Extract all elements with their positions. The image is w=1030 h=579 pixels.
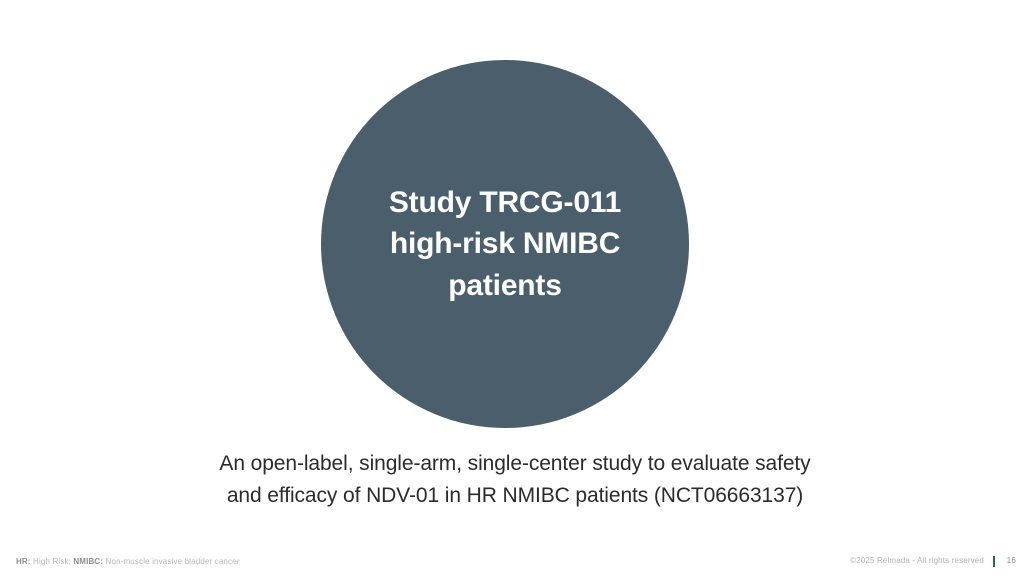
footer-meta: ©2025 Relmada - All rights reserved 16 [850,556,1016,567]
copyright-text: ©2025 Relmada - All rights reserved [850,556,984,566]
study-description: An open-label, single-arm, single-center… [0,448,1030,512]
circle-shape: Study TRCG-011 high-risk NMIBC patients [321,60,689,428]
study-circle: Study TRCG-011 high-risk NMIBC patients [321,60,689,428]
page-number: 16 [1004,556,1016,566]
abbrev-nmibc-value: Non-muscle invasive bladder cancer [103,557,239,566]
footnote-abbreviations: HR: High Risk; NMIBC: Non-muscle invasiv… [16,557,240,567]
circle-title-text: Study TRCG-011 high-risk NMIBC patients [355,182,655,306]
abbrev-nmibc-label: NMIBC: [73,557,103,566]
slide-canvas: Study TRCG-011 high-risk NMIBC patients … [0,0,1030,579]
abbrev-hr-label: HR: [16,557,31,566]
abbrev-hr-value: High Risk; [31,557,74,566]
footer-divider-icon [993,556,995,567]
